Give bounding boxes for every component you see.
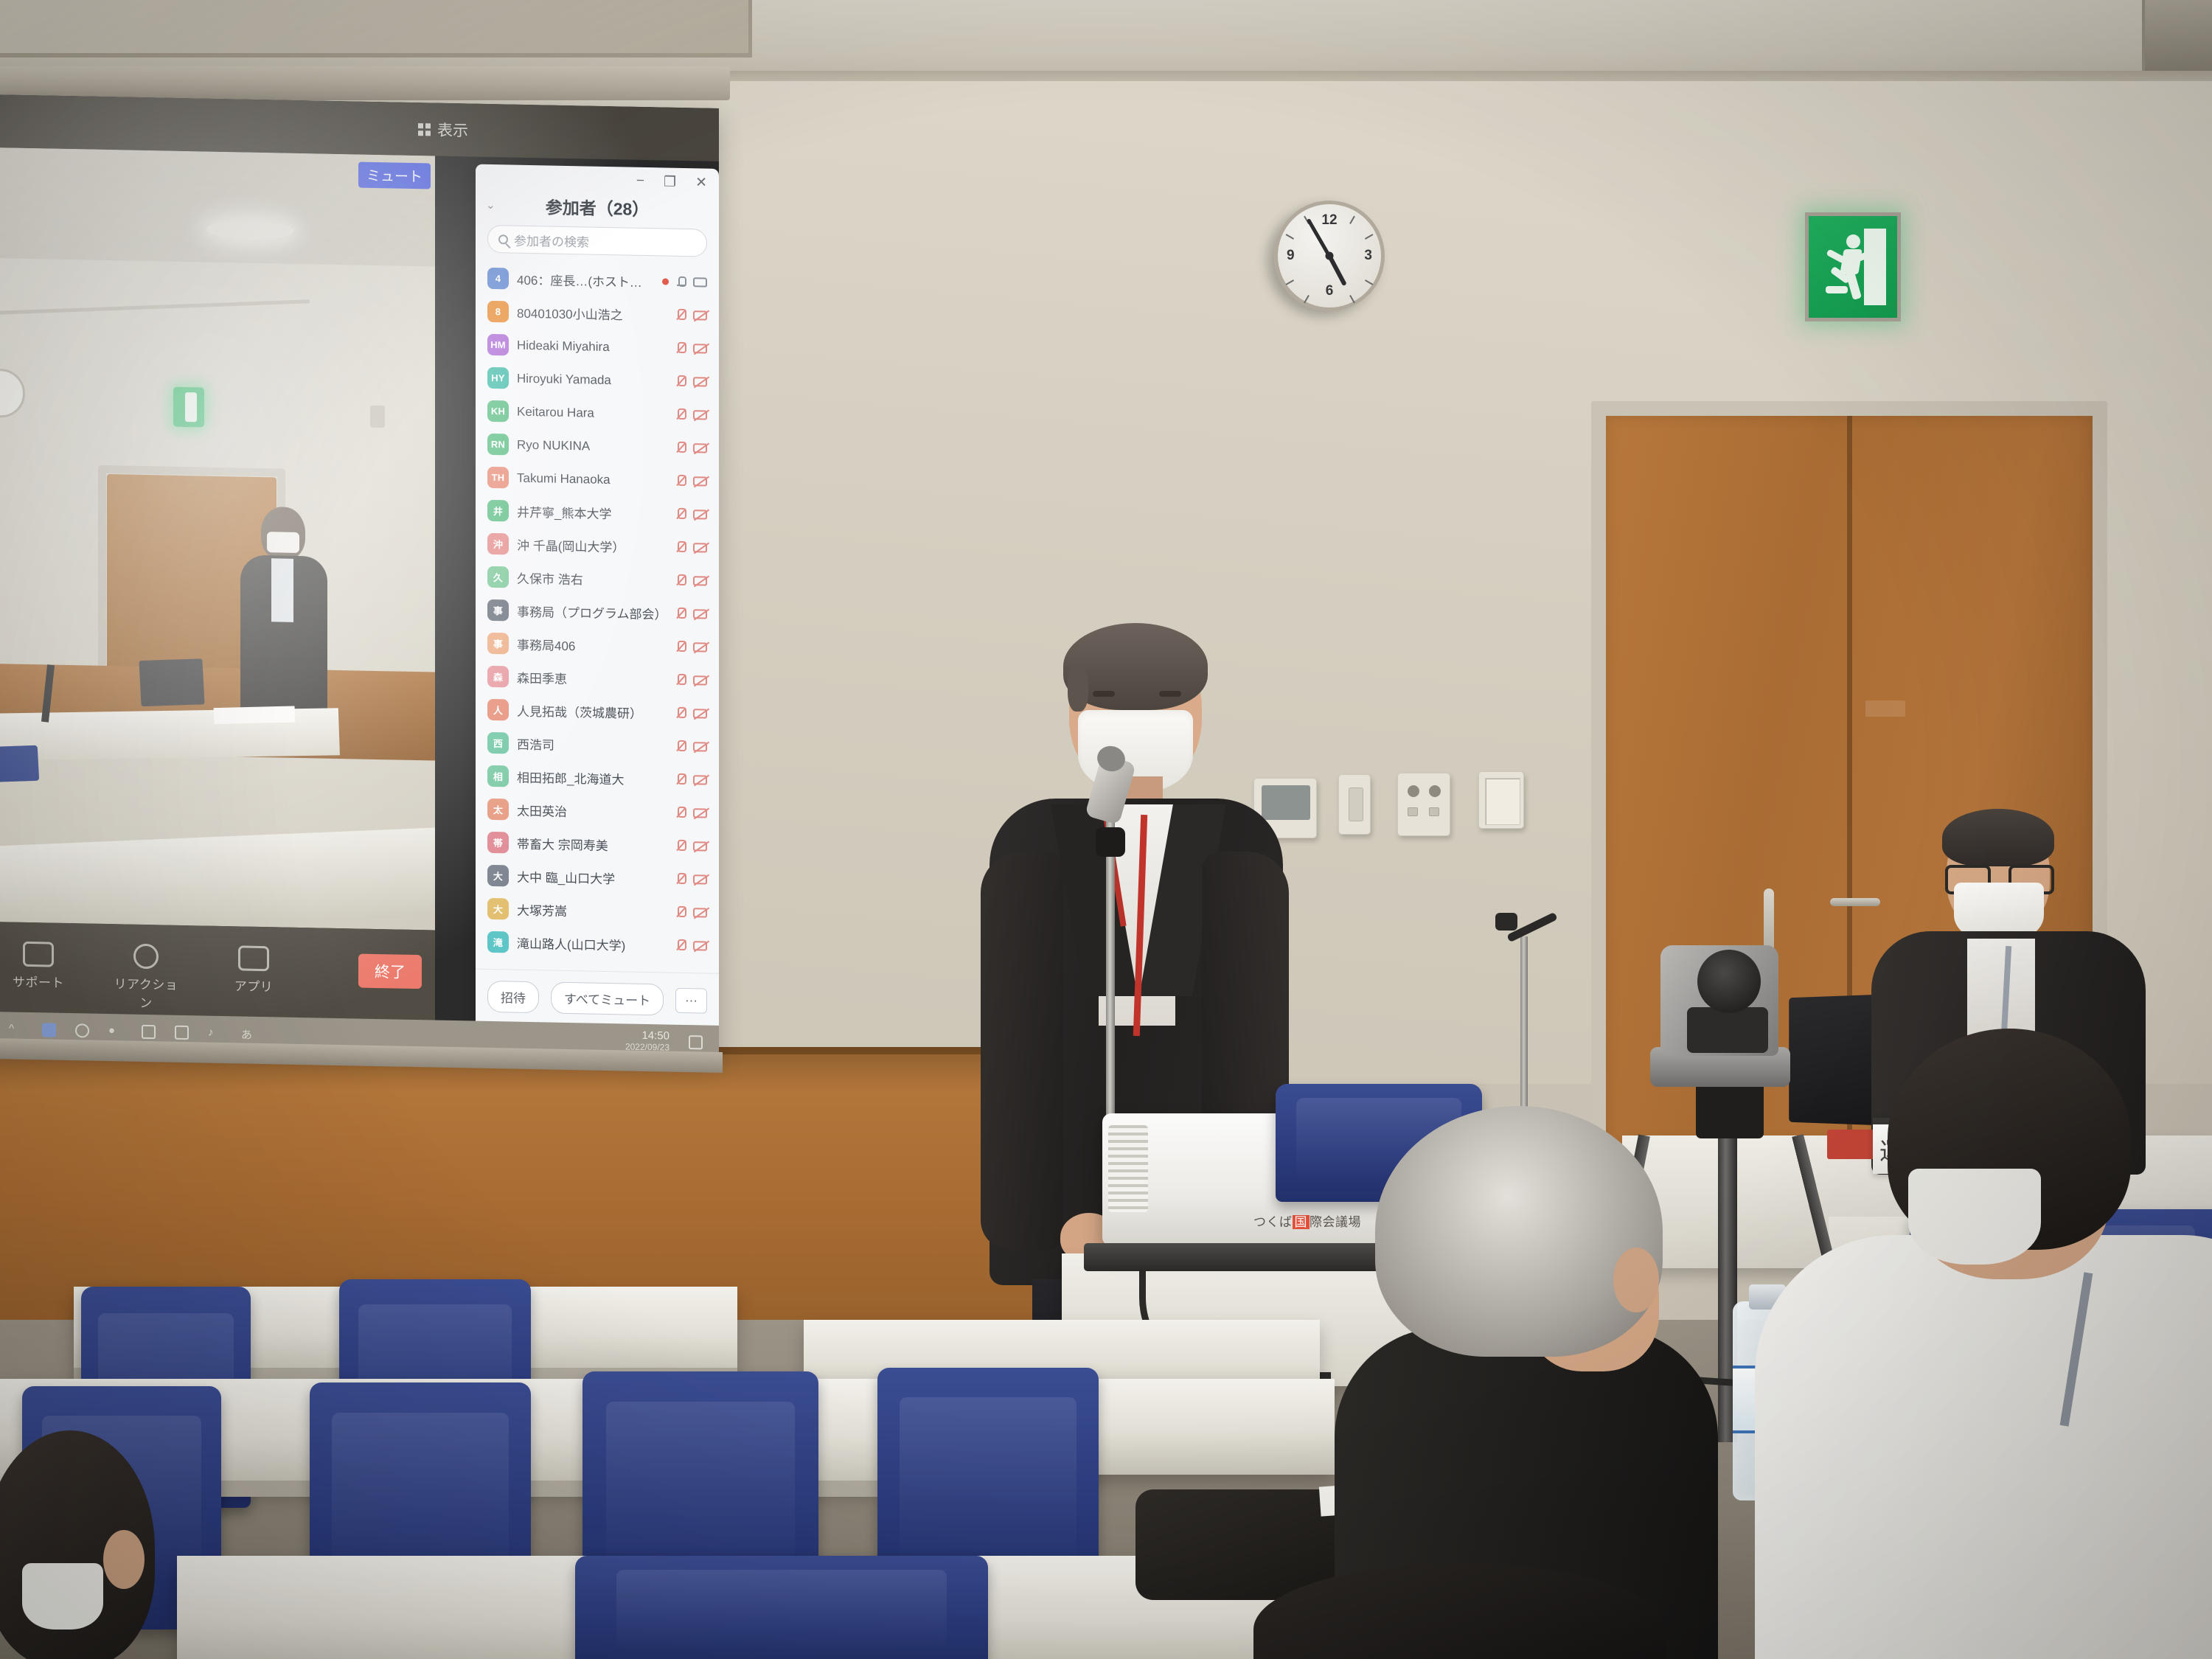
taskbar-time: 14:50 bbox=[625, 1029, 669, 1043]
venue-label-text: つくば国際会議場 bbox=[1253, 1211, 1361, 1230]
reactions-label: リアクション bbox=[111, 973, 181, 1012]
participant-name: 事務局（プログラム部会） bbox=[517, 602, 668, 623]
reaction-icon bbox=[133, 944, 159, 970]
participant-avatar: 事 bbox=[487, 633, 509, 655]
camera-off-icon[interactable] bbox=[693, 742, 707, 751]
participant-name: 相田拓郎_北海道大 bbox=[517, 768, 668, 789]
participant-status-icons bbox=[676, 674, 707, 687]
participant-avatar: 久 bbox=[487, 566, 509, 588]
mic-muted-icon[interactable] bbox=[676, 475, 685, 487]
participant-name: 406：座長…(ホスト、自分) bbox=[517, 270, 654, 291]
mute-all-button[interactable]: すべてミュート bbox=[551, 982, 664, 1016]
participant-row[interactable]: THTakumi Hanaoka bbox=[477, 461, 717, 498]
clock-numeral-9: 9 bbox=[1287, 248, 1295, 264]
camera-off-icon[interactable] bbox=[693, 344, 707, 353]
participant-status-icons bbox=[676, 873, 707, 886]
video-mute-badge: ミュート bbox=[358, 162, 431, 189]
participant-row[interactable]: 滝滝山路人(山口大学) bbox=[477, 925, 717, 963]
participant-row[interactable]: 井井芹寧_熊本大学 bbox=[477, 494, 717, 532]
participant-row[interactable]: 事事務局（プログラム部会） bbox=[477, 594, 717, 631]
participant-status-icons bbox=[676, 840, 707, 853]
participant-status-icons bbox=[676, 442, 707, 455]
participant-name: 久保市 浩右 bbox=[517, 568, 668, 590]
camera-off-icon[interactable] bbox=[693, 841, 707, 851]
participant-status-icons bbox=[676, 939, 707, 953]
participant-avatar: KH bbox=[487, 400, 509, 422]
participant-row[interactable]: KHKeitarou Hara bbox=[477, 394, 717, 432]
participant-status-icons bbox=[676, 508, 707, 521]
support-label: サポート bbox=[3, 971, 74, 991]
ime-icon[interactable]: あ bbox=[241, 1026, 255, 1040]
participant-status-icons bbox=[676, 541, 707, 554]
camera-off-icon[interactable] bbox=[693, 709, 707, 718]
camera-icon[interactable] bbox=[75, 1023, 89, 1037]
participant-name: Keitarou Hara bbox=[517, 404, 668, 422]
participant-name: 80401030小山浩之 bbox=[517, 303, 668, 324]
participant-name: 太田英治 bbox=[517, 801, 668, 822]
chat-icon[interactable] bbox=[175, 1025, 189, 1039]
search-placeholder: 参加者の検索 bbox=[514, 230, 589, 250]
recording-dot-icon bbox=[662, 278, 669, 285]
participant-status-icons bbox=[676, 574, 707, 588]
participant-name: 帯畜大 宗岡寿美 bbox=[517, 834, 668, 855]
volume-icon[interactable]: ♪ bbox=[208, 1026, 222, 1040]
participant-row[interactable]: 880401030小山浩之 bbox=[477, 295, 717, 333]
mic-icon[interactable]: ● bbox=[108, 1024, 122, 1038]
toolbar-item-support[interactable]: サポート bbox=[3, 941, 74, 991]
dimmer-switch[interactable] bbox=[1338, 774, 1371, 835]
camera-lens bbox=[1697, 950, 1761, 1013]
camera-off-icon[interactable] bbox=[693, 642, 707, 652]
participant-status-icons bbox=[676, 641, 707, 654]
mic-on-icon[interactable] bbox=[677, 276, 685, 288]
participants-panel: − ❐ ✕ ⌄ 参加者（28） 参加者の検索 4406：座長…(ホスト、自分)8… bbox=[476, 164, 719, 1028]
grid-view-icon bbox=[418, 123, 431, 136]
participant-row[interactable]: RNRyo NUKINA bbox=[477, 428, 717, 465]
participant-status-icons bbox=[676, 375, 707, 389]
participant-status-icons bbox=[676, 408, 707, 422]
video-exit-sign-icon bbox=[173, 387, 204, 428]
participant-status-icons bbox=[676, 608, 707, 621]
camera-off-icon[interactable] bbox=[693, 476, 707, 486]
participant-avatar: 太 bbox=[487, 799, 509, 821]
gray-hair bbox=[1375, 1106, 1663, 1357]
clock-numeral-12: 12 bbox=[1321, 212, 1337, 229]
participant-avatar: 大 bbox=[487, 865, 509, 887]
minimize-icon[interactable]: − bbox=[636, 173, 644, 189]
panel-footer: 招待 すべてミュート ··· bbox=[476, 969, 719, 1028]
participant-name: 人見拓哉（茨城農研） bbox=[517, 701, 668, 723]
mic-muted-icon[interactable] bbox=[676, 807, 685, 819]
participant-avatar: HM bbox=[487, 334, 509, 356]
clock-numeral-6: 6 bbox=[1326, 283, 1334, 299]
participant-avatar: 人 bbox=[487, 699, 509, 721]
door-plate bbox=[1865, 700, 1905, 717]
participant-row[interactable]: 事事務局406 bbox=[477, 627, 717, 664]
participant-row[interactable]: 帯帯畜大 宗岡寿美 bbox=[477, 826, 717, 863]
view-label: 表示 bbox=[437, 119, 468, 142]
zoom-video-tile[interactable]: ミュート bbox=[0, 147, 435, 931]
participant-name: 西浩司 bbox=[517, 734, 668, 756]
participant-name: Hiroyuki Yamada bbox=[517, 371, 668, 389]
panel-header: ⌄ 参加者（28） bbox=[476, 192, 719, 229]
participant-status-icons bbox=[676, 309, 707, 322]
participant-status-icons bbox=[662, 276, 707, 288]
toolbar-item-apps[interactable]: アプリ bbox=[218, 945, 289, 995]
mic-muted-icon[interactable] bbox=[676, 641, 685, 653]
support-icon bbox=[23, 942, 54, 967]
clock-numeral-3: 3 bbox=[1364, 248, 1372, 264]
clock-center-pin bbox=[1326, 252, 1334, 260]
participant-name: 大中 臨_山口大学 bbox=[517, 867, 668, 888]
participant-avatar: 井 bbox=[487, 500, 509, 522]
mic-muted-icon[interactable] bbox=[676, 574, 685, 587]
chevron-up-icon[interactable]: ^ bbox=[9, 1022, 23, 1036]
view-button[interactable]: 表示 bbox=[418, 118, 468, 141]
participant-row[interactable]: 大大塚芳嵩 bbox=[477, 892, 717, 930]
projection-screen: 表示 bbox=[0, 94, 719, 1060]
participant-status-icons bbox=[676, 740, 707, 754]
mic-muted-icon[interactable] bbox=[676, 773, 685, 786]
taskbar-clock[interactable]: 14:50 2022/09/23 bbox=[625, 1029, 669, 1053]
video-wall-clock bbox=[0, 369, 25, 418]
mic-muted-icon[interactable] bbox=[676, 674, 685, 686]
mic-muted-icon[interactable] bbox=[676, 740, 685, 753]
camera-off-icon[interactable] bbox=[693, 609, 707, 619]
participant-status-icons bbox=[676, 807, 707, 820]
participant-name: 森田季恵 bbox=[517, 668, 668, 689]
participant-name: Takumi Hanaoka bbox=[517, 470, 668, 488]
participant-name: 事務局406 bbox=[517, 635, 668, 656]
camera-off-icon[interactable] bbox=[693, 443, 707, 453]
participant-row[interactable]: 太太田英治 bbox=[477, 793, 717, 830]
chair-7[interactable] bbox=[575, 1556, 988, 1659]
network-icon[interactable] bbox=[142, 1024, 156, 1038]
participant-status-icons bbox=[676, 707, 707, 720]
ceiling-panel bbox=[0, 0, 752, 58]
projector-venue-label: つくば国際会議場 bbox=[1253, 1211, 1361, 1230]
mute-badge-label: ミュート bbox=[366, 165, 422, 186]
participant-status-icons bbox=[676, 906, 707, 919]
participant-row[interactable]: 森森田季恵 bbox=[477, 660, 717, 698]
participant-row[interactable]: 人人見拓哉（茨城農研） bbox=[477, 693, 717, 731]
participant-avatar: 滝 bbox=[487, 931, 509, 953]
white-shirt-mask bbox=[1908, 1169, 2041, 1265]
participant-row[interactable]: 大大中 臨_山口大学 bbox=[477, 859, 717, 897]
camera-off-icon[interactable] bbox=[693, 808, 707, 818]
camera-off-icon[interactable] bbox=[693, 775, 707, 785]
close-icon[interactable]: ✕ bbox=[695, 174, 707, 191]
foreground-attendee-white-shirt bbox=[1799, 1029, 2212, 1659]
zoom-application: 表示 bbox=[0, 94, 719, 1060]
light-switch-panel[interactable] bbox=[1478, 771, 1524, 829]
participant-avatar: 沖 bbox=[487, 533, 509, 555]
panel-title: 参加者（28） bbox=[486, 192, 709, 222]
participant-name: Ryo NUKINA bbox=[517, 437, 668, 455]
participant-avatar: 大 bbox=[487, 898, 509, 920]
camera-off-icon[interactable] bbox=[693, 941, 707, 950]
apps-label: アプリ bbox=[218, 975, 289, 995]
camera-off-icon[interactable] bbox=[693, 377, 707, 386]
app-icon[interactable] bbox=[42, 1023, 56, 1037]
camera-off-icon[interactable] bbox=[693, 908, 707, 917]
participant-name: 滝山路人(山口大学) bbox=[517, 933, 668, 955]
mic-muted-icon[interactable] bbox=[676, 939, 685, 952]
participant-avatar: 帯 bbox=[487, 832, 509, 854]
wall-outlet-panel[interactable] bbox=[1397, 773, 1450, 836]
maximize-icon[interactable]: ❐ bbox=[664, 173, 676, 190]
apps-icon bbox=[238, 945, 269, 971]
mic-muted-icon[interactable] bbox=[676, 342, 685, 355]
participant-avatar: HY bbox=[487, 367, 509, 389]
projector-vents bbox=[1108, 1125, 1148, 1212]
camera-off-icon[interactable] bbox=[693, 543, 707, 552]
notification-icon[interactable] bbox=[689, 1035, 703, 1049]
participant-avatar: RN bbox=[487, 434, 509, 456]
participant-row[interactable]: 4406：座長…(ホスト、自分) bbox=[477, 262, 717, 299]
participant-avatar: 森 bbox=[487, 666, 509, 688]
participant-row[interactable]: HYHiroyuki Yamada bbox=[477, 361, 717, 399]
mic-muted-icon[interactable] bbox=[676, 873, 685, 886]
participant-avatar: 相 bbox=[487, 765, 509, 787]
end-meeting-button[interactable]: 終了 bbox=[358, 954, 422, 990]
mic-muted-icon[interactable] bbox=[676, 309, 685, 321]
participant-status-icons bbox=[676, 773, 707, 787]
participant-name: 大塚芳嵩 bbox=[517, 900, 668, 922]
participant-name: Hideaki Miyahira bbox=[517, 338, 668, 355]
mic-muted-icon[interactable] bbox=[676, 508, 685, 521]
invite-button[interactable]: 招待 bbox=[487, 981, 539, 1013]
more-options-button[interactable]: ··· bbox=[675, 987, 707, 1013]
camera-icon[interactable] bbox=[693, 277, 707, 287]
camera-off-icon[interactable] bbox=[693, 509, 707, 519]
participant-avatar: 8 bbox=[487, 301, 509, 323]
participant-status-icons bbox=[676, 342, 707, 355]
participant-row[interactable]: 相相田拓郎_北海道大 bbox=[477, 759, 717, 797]
window-controls: − ❐ ✕ bbox=[476, 164, 719, 197]
participant-avatar: 西 bbox=[487, 732, 509, 754]
ceiling-vent bbox=[2142, 0, 2212, 74]
mic-muted-icon[interactable] bbox=[676, 442, 685, 454]
mic-muted-icon[interactable] bbox=[676, 707, 685, 720]
participant-search-input[interactable]: 参加者の検索 bbox=[487, 225, 707, 257]
participant-avatar: 事 bbox=[487, 599, 509, 622]
camera-off-icon[interactable] bbox=[693, 310, 707, 320]
wall-clock: 12 3 6 9 bbox=[1274, 201, 1385, 311]
participant-row[interactable]: 西西浩司 bbox=[477, 726, 717, 764]
participant-row[interactable]: HMHideaki Miyahira bbox=[477, 328, 717, 366]
camera-off-icon[interactable] bbox=[693, 874, 707, 884]
camera-off-icon[interactable] bbox=[693, 410, 707, 420]
mic-muted-icon[interactable] bbox=[676, 541, 685, 554]
participant-name: 井芹寧_熊本大学 bbox=[517, 502, 668, 524]
participant-list[interactable]: 4406：座長…(ホスト、自分)880401030小山浩之HMHideaki M… bbox=[476, 262, 719, 973]
search-icon bbox=[498, 234, 508, 244]
projection-screen-housing bbox=[0, 66, 730, 100]
mic-muted-icon[interactable] bbox=[676, 375, 685, 388]
toolbar-item-reactions[interactable]: リアクション bbox=[111, 943, 181, 1012]
emergency-exit-sign-icon bbox=[1805, 212, 1901, 321]
participant-avatar: 4 bbox=[487, 268, 509, 290]
participant-row[interactable]: 久久保市 浩右 bbox=[477, 560, 717, 598]
mic-muted-icon[interactable] bbox=[676, 906, 685, 919]
participant-row[interactable]: 沖沖 千晶(岡山大学） bbox=[477, 527, 717, 565]
participant-name: 沖 千晶(岡山大学） bbox=[517, 535, 668, 557]
participant-avatar: TH bbox=[487, 467, 509, 489]
mic-muted-icon[interactable] bbox=[676, 408, 685, 421]
mic-muted-icon[interactable] bbox=[676, 840, 685, 852]
camera-mount-head[interactable] bbox=[1696, 1081, 1764, 1138]
secondary-mic-head bbox=[1495, 913, 1517, 931]
video-laptop bbox=[139, 658, 204, 706]
participant-status-icons bbox=[676, 475, 707, 488]
conference-room-scene: 12 3 6 9 表示 bbox=[0, 0, 2212, 1659]
chevron-down-icon[interactable]: ⌄ bbox=[486, 198, 495, 212]
foreground-left-mask bbox=[22, 1563, 103, 1630]
speaker-hair bbox=[1063, 623, 1208, 710]
mic-muted-icon[interactable] bbox=[676, 608, 685, 620]
microphone-clip bbox=[1096, 827, 1125, 857]
camera-off-icon[interactable] bbox=[693, 675, 707, 685]
camera-off-icon[interactable] bbox=[693, 576, 707, 585]
